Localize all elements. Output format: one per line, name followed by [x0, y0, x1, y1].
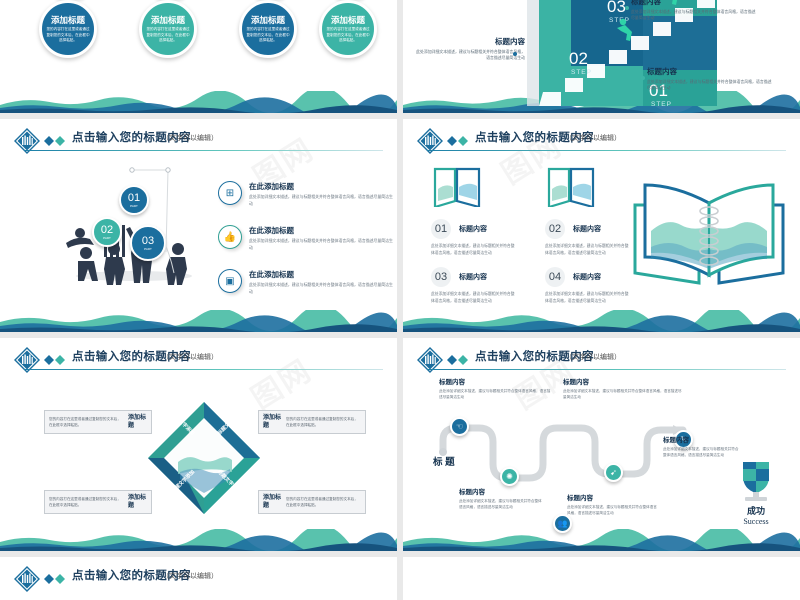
- slide-stairs[interactable]: 03 STEP 02 STEP 01 STEP 标题内容 此处添加详细文本描述，…: [403, 0, 800, 113]
- svg-text:STEP: STEP: [571, 69, 592, 76]
- caption-body: 此处添加详细文本描述，建议与标题相关并符合整体语言风格，语言描述尽量简洁生动: [459, 498, 543, 511]
- hand-click-icon[interactable]: ☜: [450, 417, 469, 436]
- slide-partial-left[interactable]: 点击输入您的标题内容 （文字可以编辑）: [0, 557, 397, 600]
- step-note: 标题内容 此处添加详细文本描述，建议与标题相关并符合整体语言风格，语言描述尽量简…: [631, 0, 759, 22]
- road-start-text: 标 题: [433, 454, 493, 468]
- rocket-icon[interactable]: ➹: [604, 463, 623, 482]
- item-number: 02: [549, 223, 561, 235]
- open-book-icon: [629, 171, 789, 289]
- svg-text:STEP: STEP: [609, 17, 630, 24]
- caption-body: 此处添加详细文本描述，建议与标题相关并符合整体语言风格，语言描述尽量简洁生动: [663, 446, 741, 459]
- diamond-bullet-icon: [44, 355, 66, 365]
- item-title: 标题内容: [573, 224, 601, 234]
- list-item[interactable]: 01 标题内容 此处添加详细文本描述，建议与标题相关并符合整体语言风格，语言描述…: [431, 219, 515, 256]
- caption-body: 此处添加详细文本描述，建议与标题相关并符合整体语言风格，语言描述尽量简洁生动: [439, 388, 551, 401]
- list-item[interactable]: 👍 在此添加标题 此处添加详细文本描述，建议与标题相关并符合整体语言风格，语言描…: [218, 225, 393, 251]
- box-label: 添加标题: [128, 414, 147, 430]
- slide-book[interactable]: 图网 点击输入您的标题内容 （文字可以编辑）: [403, 119, 800, 332]
- slide-roadmap[interactable]: 图网 点击输入您的标题内容 （文字可以编辑）: [403, 338, 800, 551]
- diamond-bullet-icon: [44, 136, 66, 146]
- badge-body: 您的内容打在这里或者通过复制您的文本后，在此框中选择粘贴。: [326, 27, 370, 43]
- road-caption: 标题内容 此处添加详细文本描述，建议与标题相关并符合整体语言风格，语言描述尽量简…: [563, 376, 683, 401]
- thumbs-up-icon: 👍: [218, 225, 242, 249]
- list-item[interactable]: ▣ 在此添加标题 此处添加详细文本描述，建议与标题相关并符合整体语言风格，语言描…: [218, 269, 393, 295]
- watercolor-band: [0, 529, 397, 551]
- step-note: 标题内容 此处添加详细文本描述，建议与标题相关并符合整体语言风格，语言描述尽量简…: [647, 66, 775, 92]
- svg-text:STEP: STEP: [651, 101, 672, 108]
- goal-cn: 成功: [723, 504, 789, 517]
- list-item[interactable]: 04 标题内容 此处添加详细文本描述，建议与标题相关并符合整体语言风格，语言描述…: [545, 267, 629, 304]
- card-icon: ▣: [218, 269, 242, 293]
- item-number-badge: 04: [545, 267, 565, 287]
- slide-header: 点击输入您的标题内容 （文字可以编辑）: [417, 127, 786, 157]
- caption-title: 标题内容: [459, 486, 543, 496]
- step-circle-sub: PART: [103, 236, 111, 240]
- badge-bubble[interactable]: 添加标题 您的内容打在这里或者通过复制您的文本后，在此框中选择粘贴。: [239, 0, 297, 58]
- goal-en: Success: [723, 517, 789, 526]
- list-item[interactable]: ⊞ 在此添加标题 此处添加详细文本描述，建议与标题相关并符合整体语言风格，语言描…: [218, 181, 393, 207]
- text-box[interactable]: 您的内容打在这里或者通过复制您的文本后，在此框中选择粘贴。添加标题: [44, 410, 152, 434]
- caption-title: 标题内容: [439, 376, 551, 386]
- item-title: 标题内容: [459, 224, 487, 234]
- road-start-label: 标 题: [433, 454, 493, 468]
- caption-title: 标题内容: [567, 492, 659, 502]
- step-note-title: 标题内容: [415, 36, 525, 47]
- text-box[interactable]: 添加标题您的内容打在这里或者通过复制您的文本后，在此框中选择粘贴。: [258, 410, 366, 434]
- box-body: 您的内容打在这里或者通过复制您的文本后，在此框中选择粘贴。: [286, 416, 361, 429]
- slide-team[interactable]: 图网 点击输入您的标题内容 （文字可以编辑）: [0, 119, 397, 332]
- header-rule: [427, 150, 786, 151]
- list-item[interactable]: 02 标题内容 此处添加详细文本描述，建议与标题相关并符合整体语言风格，语言描述…: [545, 219, 629, 256]
- caption-body: 此处添加详细文本描述，建议与标题相关并符合整体语言风格，语言描述尽量简洁生动: [567, 504, 659, 517]
- road-caption: 标题内容 此处添加详细文本描述，建议与标题相关并符合整体语言风格，语言描述尽量简…: [663, 434, 741, 459]
- item-body: 此处添加详细文本描述，建议与标题相关并符合整体语言风格，语言描述尽量简洁生动: [431, 243, 515, 256]
- item-number: 03: [435, 271, 447, 283]
- header-rule: [427, 369, 786, 370]
- item-body: 此处添加详细文本描述，建议与标题相关并符合整体语言风格，语言描述尽量简洁生动: [431, 291, 515, 304]
- page-title-note: （文字可以编辑）: [162, 133, 218, 143]
- badge-title: 添加标题: [151, 14, 185, 26]
- step-note: 标题内容 此处添加详细文本描述，建议与标题相关并符合整体语言风格，语言描述尽量简…: [415, 36, 525, 62]
- item-number-badge: 03: [431, 267, 451, 287]
- item-title: 标题内容: [459, 272, 487, 282]
- trophy-icon: [735, 458, 777, 502]
- badge-body: 您的内容打在这里或者通过复制您的文本后，在此框中选择粘贴。: [146, 27, 190, 43]
- badge-item[interactable]: 🕐 添加标题 您的内容打在这里或者通过复制您的文本后，在此框中选择粘贴。: [318, 0, 378, 58]
- svg-text:03: 03: [607, 0, 626, 16]
- mini-book-icon: [433, 167, 481, 207]
- seal-logo-icon: [14, 566, 40, 592]
- step-note-body: 此处添加详细文本描述，建议与标题相关并符合整体语言风格，语言描述尽量简洁生动: [647, 79, 775, 92]
- badge-item[interactable]: 🖵 添加标题 您的内容打在这里或者通过复制您的文本后，在此框中选择粘贴。: [38, 0, 98, 58]
- badge-title: 添加标题: [51, 14, 85, 26]
- slide-header: 点击输入您的标题内容 （文字可以编辑）: [417, 346, 786, 376]
- watercolor-band: [403, 529, 800, 551]
- page-title-note: （文字可以编辑）: [565, 133, 621, 143]
- slide-header: 点击输入您的标题内容 （文字可以编辑）: [14, 565, 383, 595]
- box-label: 添加标题: [263, 494, 282, 510]
- text-box[interactable]: 添加标题您的内容打在这里或者通过复制您的文本后，在此框中选择粘贴。: [258, 490, 366, 514]
- item-title: 在此添加标题: [249, 225, 393, 236]
- connector-dot: [513, 52, 517, 56]
- item-body: 此处添加详细文本描述，建议与标题相关并符合整体语言风格，语言描述尽量简洁生动: [249, 194, 393, 207]
- connector-dot: [641, 76, 645, 80]
- step-note-body: 此处添加详细文本描述，建议与标题相关并符合整体语言风格，语言描述尽量简洁生动: [631, 9, 759, 22]
- item-title: 在此添加标题: [249, 181, 393, 192]
- road-caption: 标题内容 此处添加详细文本描述，建议与标题相关并符合整体语言风格，语言描述尽量简…: [439, 376, 551, 401]
- connector-dot: [625, 6, 629, 10]
- item-number: 04: [549, 271, 561, 283]
- badge-bubble[interactable]: 添加标题 您的内容打在这里或者通过复制您的文本后，在此框中选择粘贴。: [319, 0, 377, 58]
- item-title: 标题内容: [573, 272, 601, 282]
- box-label: 添加标题: [263, 414, 282, 430]
- mini-book-icon: [547, 167, 595, 207]
- badge-body: 您的内容打在这里或者通过复制您的文本后，在此框中选择粘贴。: [46, 27, 90, 43]
- item-body: 此处添加详细文本描述，建议与标题相关并符合整体语言风格，语言描述尽量简洁生动: [545, 291, 629, 304]
- diamond-bullet-icon: [447, 355, 469, 365]
- box-label: 添加标题: [128, 494, 147, 510]
- badge-item[interactable]: 👥 添加标题 您的内容打在这里或者通过复制您的文本后，在此框中选择粘贴。: [238, 0, 298, 58]
- item-number: 01: [435, 223, 447, 235]
- text-box[interactable]: 您的内容打在这里或者通过复制您的文本后，在此框中选择粘贴。添加标题: [44, 490, 152, 514]
- badge-title: 添加标题: [251, 14, 285, 26]
- step-note-body: 此处添加详细文本描述，建议与标题相关并符合整体语言风格，语言描述尽量简洁生动: [415, 49, 525, 62]
- step-note-title: 标题内容: [647, 66, 775, 77]
- box-body: 您的内容打在这里或者通过复制您的文本后，在此框中选择粘贴。: [286, 496, 361, 509]
- item-body: 此处添加详细文本描述，建议与标题相关并符合整体语言风格，语言描述尽量简洁生动: [545, 243, 629, 256]
- badge-body: 您的内容打在这里或者通过复制您的文本后，在此框中选择粘贴。: [246, 27, 290, 43]
- list-item[interactable]: 03 标题内容 此处添加详细文本描述，建议与标题相关并符合整体语言风格，语言描述…: [431, 267, 515, 304]
- badge-bubble[interactable]: 添加标题 您的内容打在这里或者通过复制您的文本后，在此框中选择粘贴。: [39, 0, 97, 58]
- slide-badges[interactable]: 🖵 添加标题 您的内容打在这里或者通过复制您的文本后，在此框中选择粘贴。 🌐 添…: [0, 0, 397, 113]
- item-body: 此处添加详细文本描述，建议与标题相关并符合整体语言风格，语言描述尽量简洁生动: [249, 238, 393, 251]
- item-number-badge: 01: [431, 219, 451, 239]
- watercolor-band: [0, 310, 397, 332]
- caption-title: 标题内容: [563, 376, 683, 386]
- slide-thumbnail-grid: 🖵 添加标题 您的内容打在这里或者通过复制您的文本后，在此框中选择粘贴。 🌐 添…: [0, 0, 800, 600]
- pointer-line: [128, 166, 174, 256]
- slide-diamond[interactable]: 图网 点击输入您的标题内容 （文字可以编辑）: [0, 338, 397, 551]
- badge-title: 添加标题: [331, 14, 365, 26]
- page-title-note: （文字可以编辑）: [162, 352, 218, 362]
- diamond-bullet-icon: [44, 574, 66, 584]
- slide-header: 点击输入您的标题内容 （文字可以编辑）: [14, 346, 383, 376]
- step-circle-number: 02: [101, 224, 113, 236]
- slide-partial-right[interactable]: [403, 557, 800, 600]
- badge-item[interactable]: 🌐 添加标题 您的内容打在这里或者通过复制您的文本后，在此框中选择粘贴。: [138, 0, 198, 58]
- watercolor-band: [403, 310, 800, 332]
- step-circle[interactable]: 02 PART: [92, 217, 122, 247]
- page-title-note: （文字可以编辑）: [162, 571, 218, 581]
- svg-text:02: 02: [569, 49, 588, 68]
- lifebuoy-icon[interactable]: ✺: [500, 467, 519, 486]
- road-caption: 标题内容 此处添加详细文本描述，建议与标题相关并符合整体语言风格，语言描述尽量简…: [459, 486, 543, 511]
- caption-body: 此处添加详细文本描述，建议与标题相关并符合整体语言风格，语言描述尽量简洁生动: [563, 388, 683, 401]
- diamond-bullet-icon: [447, 136, 469, 146]
- watercolor-band: [0, 91, 397, 113]
- presentation-icon: ⊞: [218, 181, 242, 205]
- diamond-graphic: [146, 400, 262, 516]
- step-note-title: 标题内容: [631, 0, 759, 7]
- item-body: 此处添加详细文本描述，建议与标题相关并符合整体语言风格，语言描述尽量简洁生动: [249, 282, 393, 295]
- header-rule: [24, 150, 383, 151]
- box-body: 您的内容打在这里或者通过复制您的文本后，在此框中选择粘贴。: [49, 496, 124, 509]
- box-body: 您的内容打在这里或者通过复制您的文本后，在此框中选择粘贴。: [49, 416, 124, 429]
- goal-block: 成功 Success: [723, 504, 789, 526]
- badge-bubble[interactable]: 添加标题 您的内容打在这里或者通过复制您的文本后，在此框中选择粘贴。: [139, 0, 197, 58]
- page-title-note: （文字可以编辑）: [565, 352, 621, 362]
- item-number-badge: 02: [545, 219, 565, 239]
- road-caption: 标题内容 此处添加详细文本描述，建议与标题相关并符合整体语言风格，语言描述尽量简…: [567, 492, 659, 517]
- item-title: 在此添加标题: [249, 269, 393, 280]
- slide-header: 点击输入您的标题内容 （文字可以编辑）: [14, 127, 383, 157]
- caption-title: 标题内容: [663, 434, 741, 444]
- header-rule: [24, 369, 383, 370]
